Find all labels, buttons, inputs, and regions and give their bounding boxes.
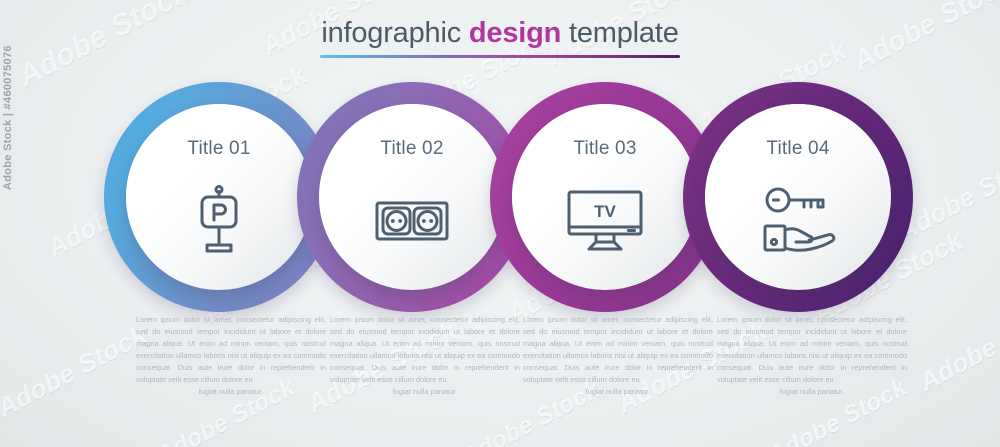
step-description-4: Lorem ipsum dolor sit amet, consectetur … <box>717 314 907 398</box>
description-last-line: fugiat nulla pariatur. <box>136 386 326 398</box>
key-in-hand-icon <box>705 178 891 264</box>
title-part-one: infographic <box>321 17 469 49</box>
steps-row: Title 01 Title 02 <box>0 82 1000 312</box>
svg-text:TV: TV <box>594 202 616 221</box>
descriptions-row: Lorem ipsum dolor sit amet, consectetur … <box>0 314 1000 410</box>
description-text: Lorem ipsum dolor sit amet, consectetur … <box>717 315 907 384</box>
parking-sign-icon <box>126 178 312 264</box>
step-label-4: Title 04 <box>705 138 891 160</box>
description-last-line: fugiat nulla pariatur. <box>330 386 520 398</box>
stock-id-watermark: Adobe Stock | #460075076 <box>2 45 14 190</box>
step-disc-4[interactable]: Title 04 <box>705 104 891 290</box>
description-text: Lorem ipsum dolor sit amet, consectetur … <box>523 315 713 384</box>
title-underline-rule <box>320 55 680 58</box>
title-part-two: template <box>561 17 679 49</box>
step-disc-3[interactable]: Title 03 TV <box>512 104 698 290</box>
description-text: Lorem ipsum dolor sit amet, consectetur … <box>330 315 520 384</box>
step-description-3: Lorem ipsum dolor sit amet, consectetur … <box>523 314 713 398</box>
step-disc-1[interactable]: Title 01 <box>126 104 312 290</box>
step-label-1: Title 01 <box>126 138 312 160</box>
step-item-4[interactable]: Title 04 <box>683 82 913 312</box>
step-label-3: Title 03 <box>512 138 698 160</box>
tv-monitor-icon: TV <box>512 178 698 264</box>
page-header: infographic design template <box>0 18 1000 58</box>
description-text: Lorem ipsum dolor sit amet, consectetur … <box>136 315 326 384</box>
power-socket-icon <box>319 178 505 264</box>
step-description-1: Lorem ipsum dolor sit amet, consectetur … <box>136 314 326 398</box>
title-emphasis: design <box>469 17 561 49</box>
step-disc-2[interactable]: Title 02 <box>319 104 505 290</box>
step-description-2: Lorem ipsum dolor sit amet, consectetur … <box>330 314 520 398</box>
page-title: infographic design template <box>0 18 1000 48</box>
description-last-line: fugiat nulla pariatur. <box>523 386 713 398</box>
step-label-2: Title 02 <box>319 138 505 160</box>
description-last-line: fugiat nulla pariatur. <box>717 386 907 398</box>
